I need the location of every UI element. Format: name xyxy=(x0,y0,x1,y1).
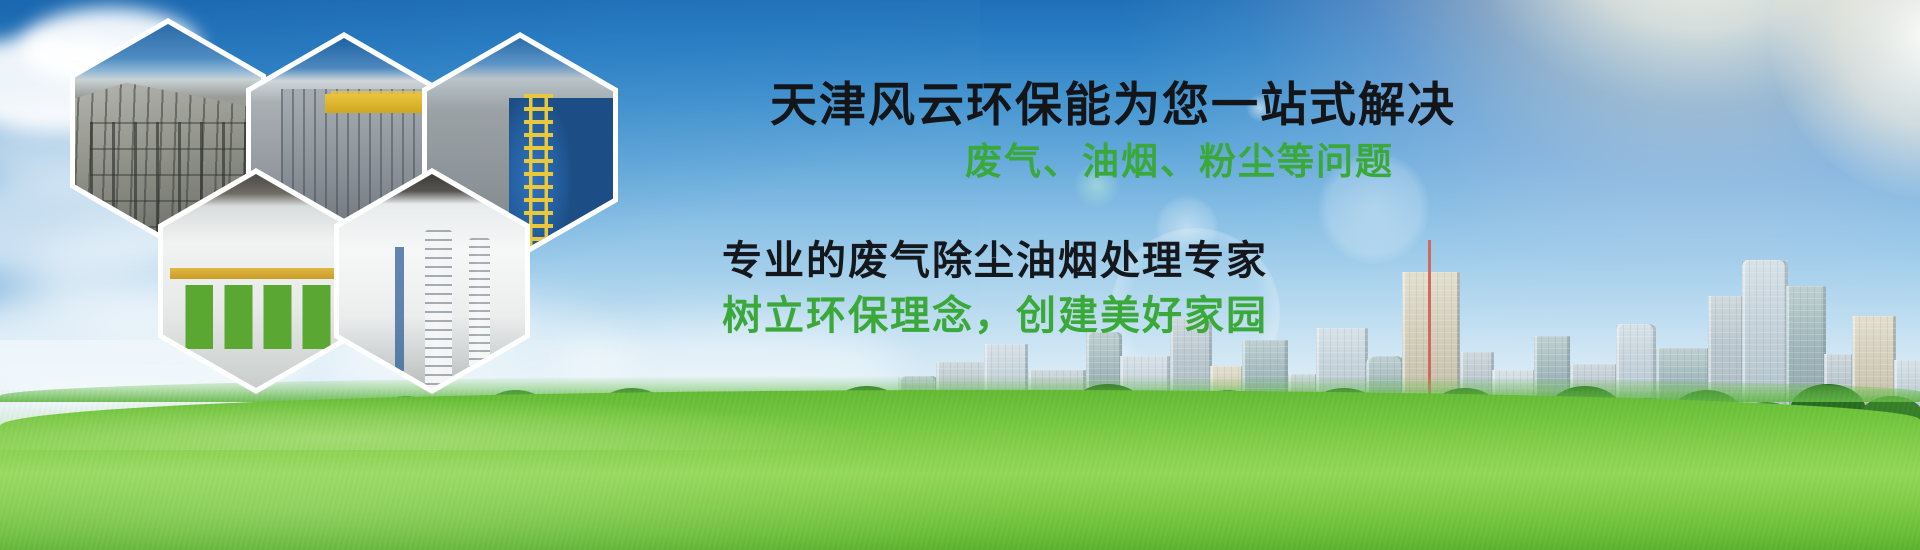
banner-copy: 天津风云环保能为您一站式解决 废气、油烟、粉尘等问题 专业的废气除尘油烟处理专家… xyxy=(0,0,1920,550)
banner-subhead: 废气、油烟、粉尘等问题 xyxy=(965,131,1394,185)
banner-tagline-1: 专业的废气除尘油烟处理专家 xyxy=(722,228,1268,286)
promotional-banner: 天津风云环保能为您一站式解决 废气、油烟、粉尘等问题 专业的废气除尘油烟处理专家… xyxy=(0,0,1920,550)
banner-headline: 天津风云环保能为您一站式解决 xyxy=(770,66,1456,135)
banner-tagline-2: 树立环保理念，创建美好家园 xyxy=(722,283,1268,341)
